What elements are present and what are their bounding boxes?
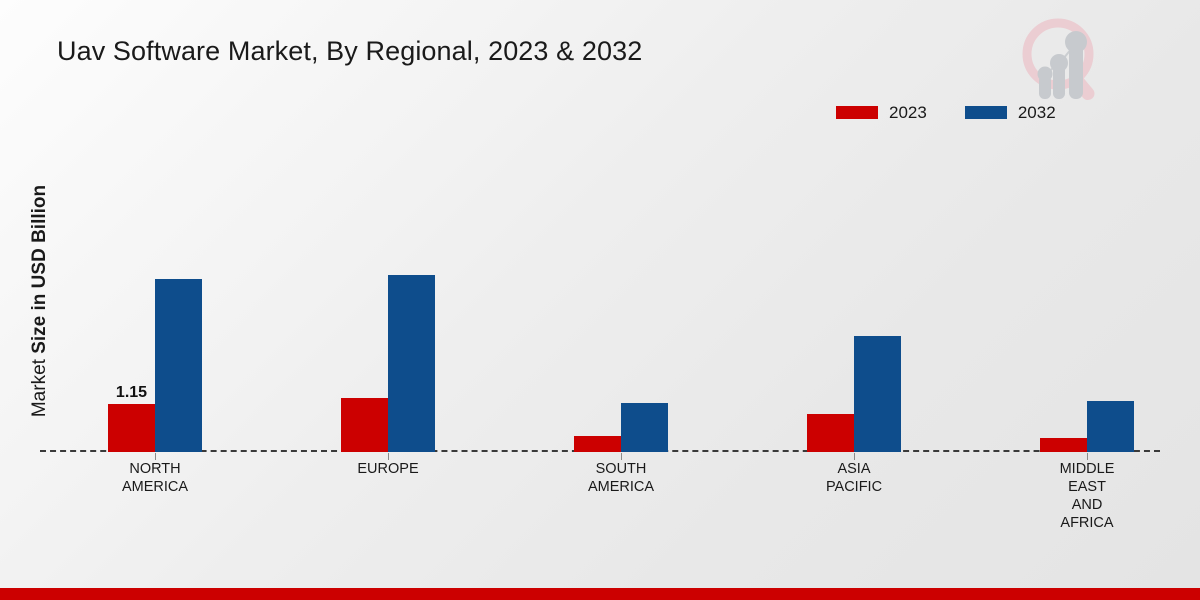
bar-2032-south-america[interactable] <box>621 403 668 452</box>
x-axis-tick <box>155 453 156 460</box>
x-axis-category-label: NORTHAMERICA <box>80 460 230 496</box>
legend-item-2023[interactable]: 2023 <box>836 104 927 121</box>
legend-item-2032[interactable]: 2032 <box>965 104 1056 121</box>
category-label-line: AND <box>1012 496 1162 514</box>
chart-figure: Uav Software Market, By Regional, 2023 &… <box>0 0 1200 600</box>
legend-swatch-2023 <box>836 106 878 119</box>
bar-2023-middle-east-and-africa[interactable] <box>1040 438 1087 452</box>
x-axis-category-label: ASIAPACIFIC <box>779 460 929 496</box>
x-axis-tick <box>621 453 622 460</box>
plot-area: 1.15NORTHAMERICAEUROPESOUTHAMERICAASIAPA… <box>40 130 1164 452</box>
category-label-line: AMERICA <box>546 478 696 496</box>
x-axis-category-label: EUROPE <box>313 460 463 478</box>
chart-title: Uav Software Market, By Regional, 2023 &… <box>57 36 642 67</box>
legend-label-2032: 2032 <box>1018 104 1056 121</box>
magnifier-bar-chart-icon <box>1014 12 1110 104</box>
bar-2023-north-america[interactable]: 1.15 <box>108 404 155 452</box>
bar-2032-north-america[interactable] <box>155 279 202 452</box>
category-label-line: ASIA <box>779 460 929 478</box>
bar-2023-europe[interactable] <box>341 398 388 452</box>
x-axis-tick <box>1087 453 1088 460</box>
category-label-line: AMERICA <box>80 478 230 496</box>
category-label-line: PACIFIC <box>779 478 929 496</box>
bar-2032-asia-pacific[interactable] <box>854 336 901 452</box>
category-label-line: EUROPE <box>313 460 463 478</box>
bar-2023-south-america[interactable] <box>574 436 621 452</box>
x-axis-tick <box>854 453 855 460</box>
category-label-line: NORTH <box>80 460 230 478</box>
company-watermark-logo <box>1014 12 1110 104</box>
y-axis-title-container: Market Size in USD Billion <box>0 0 42 600</box>
x-axis-tick <box>388 453 389 460</box>
chart-legend: 2023 2032 <box>836 104 1056 121</box>
category-label-line: SOUTH <box>546 460 696 478</box>
category-label-line: EAST <box>1012 478 1162 496</box>
accent-strip <box>0 588 1200 600</box>
x-axis-category-label: MIDDLEEASTANDAFRICA <box>1012 460 1162 532</box>
legend-swatch-2032 <box>965 106 1007 119</box>
x-axis-category-label: SOUTHAMERICA <box>546 460 696 496</box>
category-label-line: AFRICA <box>1012 514 1162 532</box>
bar-2032-middle-east-and-africa[interactable] <box>1087 401 1134 452</box>
bar-2032-europe[interactable] <box>388 275 435 452</box>
legend-label-2023: 2023 <box>889 104 927 121</box>
category-label-line: MIDDLE <box>1012 460 1162 478</box>
bar-2023-asia-pacific[interactable] <box>807 414 854 452</box>
bar-value-label: 1.15 <box>116 384 147 402</box>
